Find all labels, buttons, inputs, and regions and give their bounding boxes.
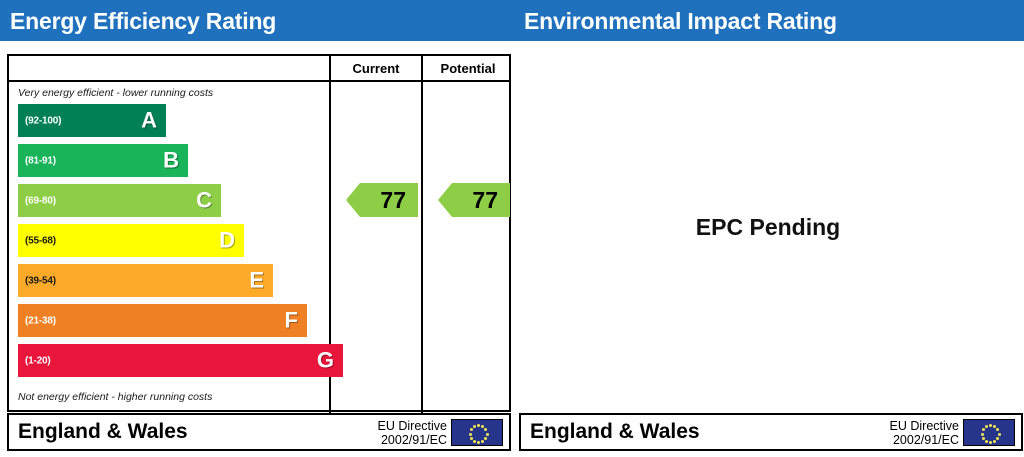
header-band: Energy Efficiency Rating Environmental I… xyxy=(0,0,1024,41)
epc-rating-table: Current Potential Very energy efficient … xyxy=(7,54,511,412)
footer-region-label: England & Wales xyxy=(18,420,188,444)
eu-star xyxy=(985,425,988,428)
current-rating-arrow: 77 xyxy=(346,183,418,217)
band-letter-c: C xyxy=(196,187,212,213)
eu-flag-icon xyxy=(963,419,1015,446)
epc-pending-message: EPC Pending xyxy=(512,41,1024,413)
band-letter-b: B xyxy=(163,147,179,173)
rating-bands-area: Very energy efficient - lower running co… xyxy=(9,82,329,412)
energy-efficiency-title: Energy Efficiency Rating xyxy=(10,8,276,35)
band-letter-g: G xyxy=(317,347,334,373)
footer-directive: EU Directive 2002/91/EC xyxy=(378,419,447,447)
band-range-f: (21-38) xyxy=(25,315,56,326)
eu-star xyxy=(989,441,992,444)
directive-line-1: EU Directive xyxy=(890,419,959,433)
rating-band-e: (39-54) E xyxy=(18,264,273,297)
band-range-d: (55-68) xyxy=(25,235,56,246)
rating-band-d: (55-68) D xyxy=(18,224,244,257)
eu-star xyxy=(981,433,984,436)
environmental-impact-title: Environmental Impact Rating xyxy=(524,8,837,35)
rating-band-b: (81-91) B xyxy=(18,144,188,177)
eu-flag-icon xyxy=(451,419,503,446)
eu-star xyxy=(484,428,487,431)
eu-star xyxy=(473,425,476,428)
eu-star xyxy=(477,441,480,444)
footer-region-label: England & Wales xyxy=(530,420,700,444)
eu-star xyxy=(477,424,480,427)
eu-star xyxy=(996,437,999,440)
eu-star xyxy=(989,424,992,427)
footer-directive: EU Directive 2002/91/EC xyxy=(890,419,959,447)
eu-star xyxy=(481,440,484,443)
band-range-e: (39-54) xyxy=(25,275,56,286)
note-very-efficient: Very energy efficient - lower running co… xyxy=(18,87,213,99)
column-header-potential: Potential xyxy=(423,59,513,79)
band-range-a: (92-100) xyxy=(25,115,61,126)
band-letter-d: D xyxy=(219,227,235,253)
band-range-b: (81-91) xyxy=(25,155,56,166)
eu-star xyxy=(484,437,487,440)
band-letter-a: A xyxy=(141,107,157,133)
potential-rating-arrow: 77 xyxy=(438,183,510,217)
eu-star xyxy=(486,433,489,436)
eu-star xyxy=(982,428,985,431)
rating-band-c: (69-80) C xyxy=(18,184,221,217)
directive-line-2: 2002/91/EC xyxy=(378,433,447,447)
eu-star xyxy=(469,433,472,436)
eu-star xyxy=(998,433,1001,436)
eu-star xyxy=(982,437,985,440)
directive-line-1: EU Directive xyxy=(378,419,447,433)
band-range-c: (69-80) xyxy=(25,195,56,206)
band-range-g: (1-20) xyxy=(25,355,50,366)
eu-star xyxy=(993,440,996,443)
environmental-impact-panel: EPC Pending England & Wales EU Directive… xyxy=(512,41,1024,457)
table-header-row: Current Potential xyxy=(9,56,509,82)
footer-right: England & Wales EU Directive 2002/91/EC xyxy=(519,413,1023,451)
eu-star xyxy=(996,428,999,431)
rating-band-g: (1-20) G xyxy=(18,344,343,377)
rating-band-f: (21-38) F xyxy=(18,304,307,337)
eu-star xyxy=(985,440,988,443)
eu-star xyxy=(473,440,476,443)
eu-star xyxy=(470,437,473,440)
footer-left: England & Wales EU Directive 2002/91/EC xyxy=(7,413,511,451)
band-letter-e: E xyxy=(249,267,264,293)
note-not-efficient: Not energy efficient - higher running co… xyxy=(18,391,212,403)
column-divider-2 xyxy=(421,56,423,414)
column-header-current: Current xyxy=(331,59,421,79)
energy-efficiency-panel: Current Potential Very energy efficient … xyxy=(0,41,512,457)
rating-band-a: (92-100) A xyxy=(18,104,166,137)
eu-star xyxy=(470,428,473,431)
band-letter-f: F xyxy=(285,307,298,333)
directive-line-2: 2002/91/EC xyxy=(890,433,959,447)
